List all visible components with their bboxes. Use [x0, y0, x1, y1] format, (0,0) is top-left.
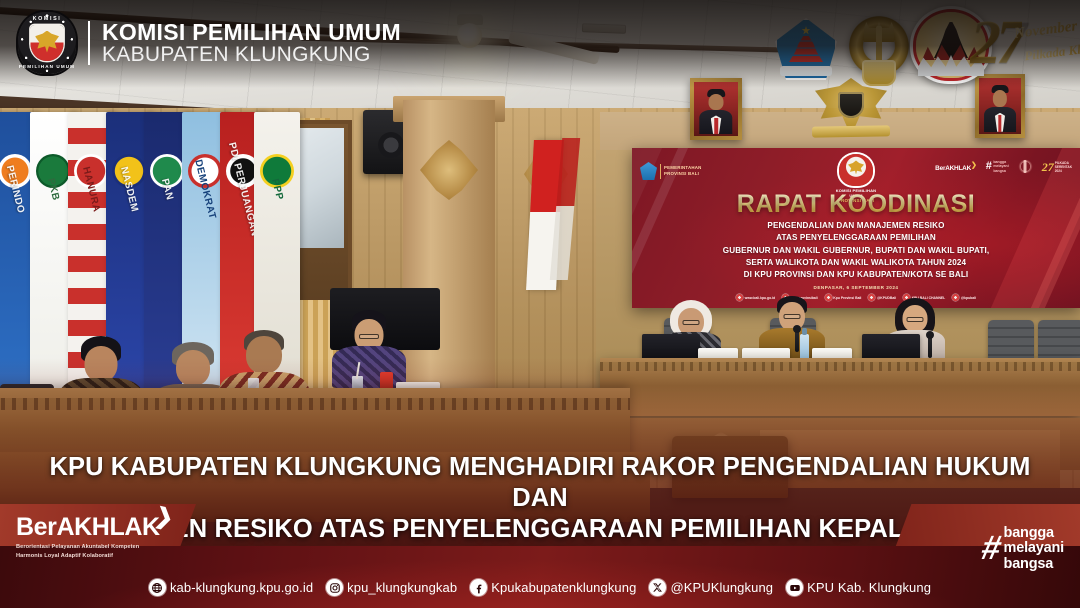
- banner-date: DENPASAR, 6 SEPTEMBER 2024: [632, 285, 1080, 290]
- facebook-icon: [470, 579, 487, 596]
- banner-pilkada-line2: SERENTAK: [1055, 165, 1072, 169]
- banner-subtitle-line: PENGENDALIAN DAN MANAJEMEN RESIKO: [642, 220, 1070, 232]
- portrait-tie: [998, 115, 1001, 132]
- glasses-icon: [683, 320, 700, 325]
- social-label-youtube: KPU Kab. Klungkung: [807, 580, 931, 595]
- hash-icon: #: [986, 161, 992, 172]
- banner-trident-icon: [1018, 158, 1033, 175]
- x-twitter-icon: [868, 294, 875, 301]
- banner-social-item: Kpu Provinsi Bali: [825, 294, 862, 301]
- kpu-logo-icon: KOMISI PEMILIHAN UMUM: [18, 12, 76, 74]
- bali-shield-icon: [640, 162, 657, 180]
- banner-social-item: @kpubali: [952, 294, 976, 301]
- x-twitter-icon: [649, 579, 666, 596]
- footer-social-row: kab-klungkung.kpu.go.id kpu_klungkungkab…: [0, 579, 1080, 596]
- bangga-words: bangga melayani bangsa: [1004, 526, 1064, 572]
- banner-pilkada-number: 27: [1042, 161, 1054, 173]
- berakhlak-logo: BerAKHLAK ❯ Berorientasi Pelayanan Akunt…: [16, 515, 160, 560]
- logo-ring-top-text: KOMISI: [18, 16, 76, 22]
- hash-icon: #: [979, 534, 1001, 563]
- poster-root: 27 November 2024 Pilkada Klungkung PERIN…: [0, 0, 1080, 608]
- banner-pilkada-line3: 2024: [1055, 169, 1072, 173]
- social-label-facebook: Kpukabupatenklungkung: [491, 580, 636, 595]
- social-label-website: kab-klungkung.kpu.go.id: [170, 580, 313, 595]
- globe-icon: [736, 294, 743, 301]
- social-item-youtube[interactable]: KPU Kab. Klungkung: [786, 579, 931, 596]
- banner-subtitle-line: DI KPU PROVINSI DAN KPU KABUPATEN/KOTA S…: [642, 269, 1070, 281]
- portrait-tie: [714, 118, 718, 134]
- banner-pilkada-text: PILKADA SERENTAK 2024: [1055, 161, 1072, 173]
- table-microphone: [928, 336, 932, 358]
- banner-pilkada-logo: 27 PILKADA SERENTAK 2024: [1042, 161, 1072, 173]
- header-line1: KOMISI PEMILIHAN UMUM: [102, 21, 401, 44]
- berakhlak-tagline-line1: Berorientasi Pelayanan Akuntabel Kompete…: [16, 543, 160, 551]
- glasses-icon: [784, 314, 801, 319]
- berakhlak-tagline: Berorientasi Pelayanan Akuntabel Kompete…: [16, 543, 160, 560]
- banner-bali-government-logo: PEMERINTAHAN PROVINSI BALI: [640, 162, 701, 180]
- bangga-line2: melayani: [1004, 541, 1064, 556]
- social-item-facebook[interactable]: Kpukabupatenklungkung: [470, 579, 636, 596]
- youtube-icon: [786, 579, 803, 596]
- banner-gov-logo-text: PEMERINTAHAN PROVINSI BALI: [664, 165, 701, 176]
- social-item-instagram[interactable]: kpu_klungkungkab: [326, 579, 457, 596]
- header-divider: [88, 21, 90, 65]
- bangga-line1: bangga: [1004, 526, 1064, 541]
- banner-bangga-line3: bangsa: [993, 169, 1008, 173]
- social-label-x: @KPUKlungkung: [670, 580, 773, 595]
- bangga-melayani-bangsa-logo: # bangga melayani bangsa: [982, 526, 1064, 572]
- header-title-block: KOMISI PEMILIHAN UMUM KABUPATEN KLUNGKUN…: [102, 21, 401, 66]
- kpu-shield-icon: [31, 25, 64, 61]
- berakhlak-tagline-line2: Harmonis Loyal Adaptif Kolaboratif: [16, 552, 160, 560]
- banner-gov-line2: PROVINSI BALI: [664, 171, 701, 177]
- event-backdrop-banner: PEMERINTAHAN PROVINSI BALI KOMISI PEMILI…: [632, 148, 1080, 308]
- banner-subtitle-line: GUBERNUR DAN WAKIL GUBERNUR, BUPATI DAN …: [642, 245, 1070, 257]
- header-bar: KOMISI PEMILIHAN UMUM KOMISI PEMILIHAN U…: [0, 0, 1080, 86]
- handheld-microphone: [795, 330, 799, 352]
- globe-icon: [149, 579, 166, 596]
- banner-subtitle: PENGENDALIAN DAN MANAJEMEN RESIKO ATAS P…: [632, 220, 1080, 281]
- portrait-head: [993, 90, 1007, 107]
- banner-social-label: Kpu Provinsi Bali: [833, 296, 861, 300]
- social-item-website[interactable]: kab-klungkung.kpu.go.id: [149, 579, 313, 596]
- berakhlak-title: BerAKHLAK ❯: [16, 515, 160, 540]
- footer-sheen: [0, 546, 1080, 608]
- instagram-icon: [326, 579, 343, 596]
- banner-subtitle-line: SERTA WALIKOTA DAN WAKIL WALIKOTA TAHUN …: [642, 257, 1070, 269]
- banner-berakhlak-logo: BerAKHLAK❯: [935, 161, 977, 172]
- header-line2: KABUPATEN KLUNGKUNG: [102, 44, 401, 65]
- logo-ring-bottom-text: PEMILIHAN UMUM: [18, 64, 76, 69]
- social-label-instagram: kpu_klungkungkab: [347, 580, 457, 595]
- banner-social-label: @kpubali: [961, 296, 976, 300]
- banner-title: RAPAT KOODINASI: [632, 192, 1080, 217]
- divider: [660, 164, 661, 179]
- banner-bangga-text: bangga melayani bangsa: [993, 160, 1008, 173]
- berakhlak-title-text: BerAKHLAK: [16, 513, 160, 541]
- banner-bangga-logo: # bangga melayani bangsa: [986, 160, 1009, 173]
- footer-bar: [0, 546, 1080, 608]
- banner-subtitle-line: ATAS PENYELENGGARAAN PEMILIHAN: [642, 232, 1070, 244]
- banner-corner-logos: BerAKHLAK❯ # bangga melayani bangsa 27 P…: [935, 158, 1072, 175]
- kpu-shield-icon: [839, 154, 873, 186]
- garuda-shield-icon: [838, 92, 864, 118]
- laptop: [642, 334, 700, 360]
- portrait-head: [709, 94, 724, 110]
- glasses-icon: [907, 317, 924, 322]
- social-item-x[interactable]: @KPUKlungkung: [649, 579, 773, 596]
- banner-berakhlak-text: BerAKHLAK: [935, 165, 971, 172]
- tiktok-icon: [952, 294, 959, 301]
- garuda-scroll: [812, 125, 890, 137]
- bangga-line3: bangsa: [1004, 557, 1064, 572]
- glasses-icon: [359, 334, 379, 339]
